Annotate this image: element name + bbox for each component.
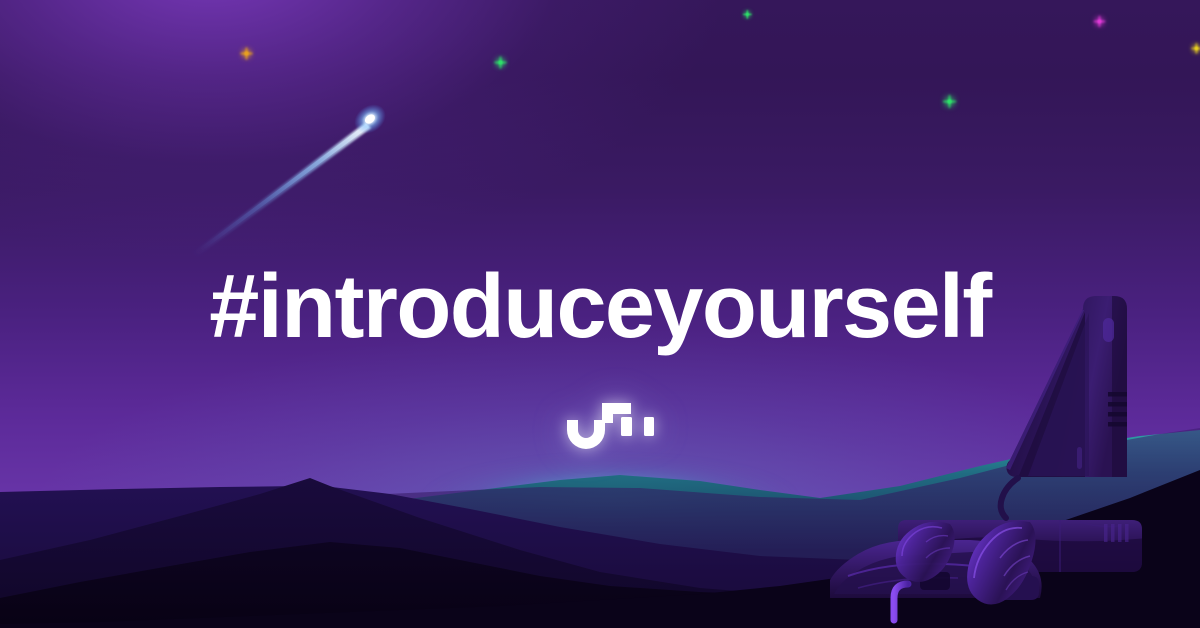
logo-bowl [567,420,605,449]
logo-bar-2 [644,417,654,436]
logo-bar-1 [621,417,632,436]
fin-slot [1077,447,1082,469]
fin-connector [1001,478,1018,518]
page-title: #introduceyourself [0,262,1200,352]
dev-community-logo [545,386,675,456]
banner-scene: #introduceyourself [0,0,1200,628]
